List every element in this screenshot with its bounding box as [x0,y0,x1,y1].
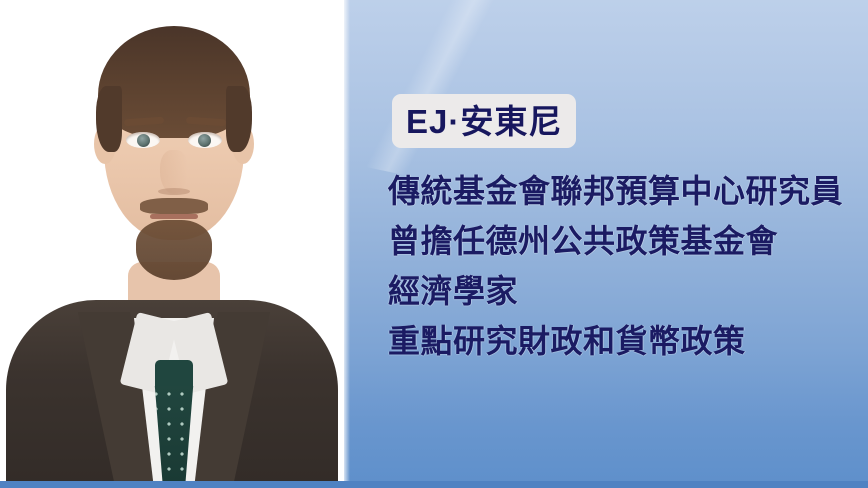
portrait-iris-right [198,134,211,147]
credential-line-4: 重點研究財政和貨幣政策 [388,316,868,366]
guest-portrait-photo [0,0,344,482]
guest-credentials-list: 傳統基金會聯邦預算中心研究員 曾擔任德州公共政策基金會 經濟學家 重點研究財政和… [388,166,868,366]
credential-line-2: 曾擔任德州公共政策基金會 [388,216,868,266]
portrait-hair-side-left [96,86,122,152]
portrait-iris-left [137,134,150,147]
bottom-accent-strip [0,481,868,488]
portrait-moustache [140,198,208,214]
guest-name-badge: EJ·安東尼 [392,94,576,148]
lower-third-name-card: EJ·安東尼 傳統基金會聯邦預算中心研究員 曾擔任德州公共政策基金會 經濟學家 … [0,0,868,488]
credential-line-1: 傳統基金會聯邦預算中心研究員 [388,166,868,216]
portrait-mouth [150,214,198,219]
guest-name-text: EJ·安東尼 [406,105,562,138]
portrait-hair-side-right [226,86,252,152]
credential-line-3: 經濟學家 [388,266,868,316]
portrait-goatee [136,220,212,280]
portrait-nostrils [158,188,190,195]
